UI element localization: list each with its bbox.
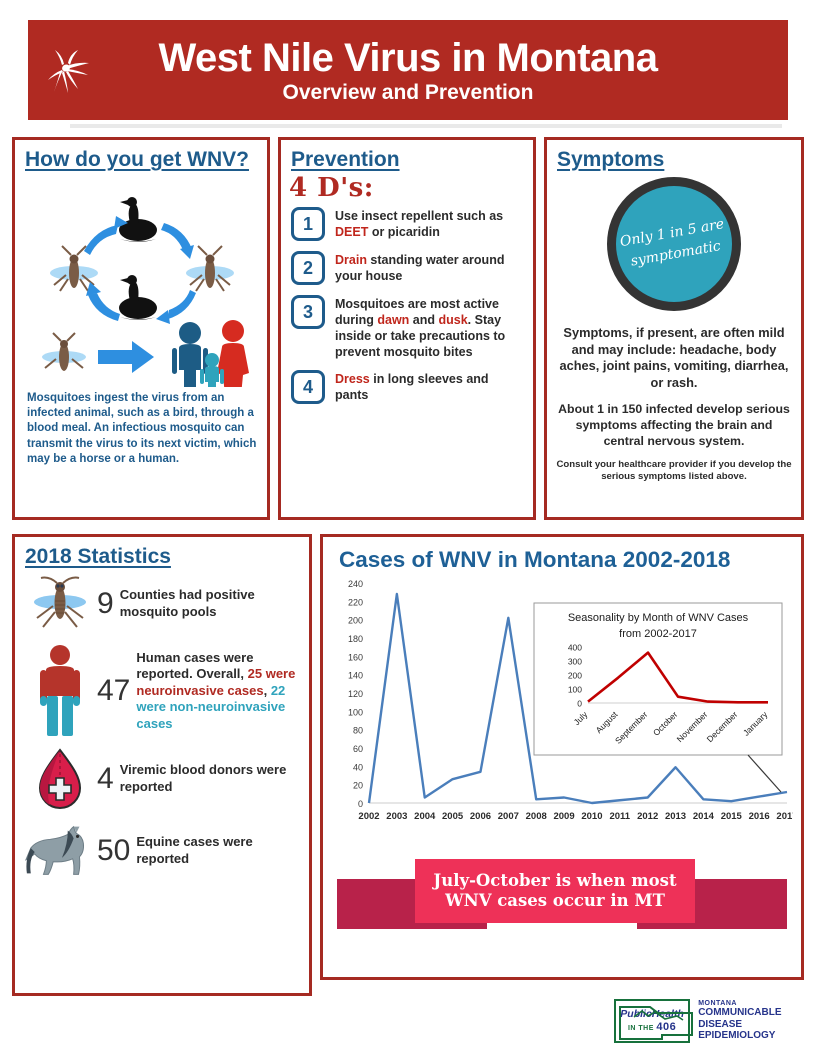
text-post: or picaridin [368, 225, 440, 239]
y-axis-tick: 180 [348, 634, 363, 644]
main-line-chart: 0204060801001201401601802002202402002200… [329, 575, 793, 845]
ribbon-text: July-October is when most WNV cases occu… [415, 871, 695, 911]
inset-y-tick: 0 [577, 699, 582, 709]
y-axis-tick: 240 [348, 579, 363, 589]
prevention-item-text: Mosquitoes are most active during dawn a… [335, 295, 525, 360]
page-header: West Nile Virus in Montana Overview and … [28, 20, 788, 120]
y-axis-tick: 0 [358, 799, 363, 809]
inset-y-tick: 400 [568, 643, 582, 653]
prevention-item-text: Dress in long sleeves and pants [335, 370, 525, 403]
prevention-subheading: 4 D's: [289, 173, 533, 203]
x-axis-tick: 2002 [358, 811, 379, 822]
symptoms-stat-circle: Only 1 in 5 are symptomatic [607, 177, 741, 311]
y-axis-tick: 20 [353, 781, 363, 791]
stat-text: Equine cases were reported [136, 834, 301, 867]
x-axis-tick: 2006 [470, 811, 491, 822]
blood-drop-icon [23, 748, 97, 810]
symptoms-paragraph-1: Symptoms, if present, are often mild and… [555, 325, 793, 392]
inset-y-tick: 200 [568, 671, 582, 681]
horse-icon [23, 822, 97, 880]
stat-text: Viremic blood donors were reported [120, 762, 301, 795]
x-axis-tick: 2004 [414, 811, 436, 822]
stat-row: 50 Equine cases were reported [15, 822, 309, 880]
prevention-item-text: Drain standing water around your house [335, 251, 525, 284]
stat-number: 50 [97, 834, 136, 868]
symptoms-stat-circle-wrap: Only 1 in 5 are symptomatic [547, 177, 801, 311]
x-axis-tick: 2016 [749, 811, 770, 822]
text-mid: and [409, 313, 438, 327]
text-highlight: dawn [377, 313, 409, 327]
step-number-badge: 4 [291, 370, 325, 404]
symptoms-heading: Symptoms [557, 148, 801, 171]
x-axis-tick: 2017 [776, 811, 793, 822]
y-axis-tick: 160 [348, 652, 363, 662]
x-axis-tick: 2008 [526, 811, 547, 822]
x-axis-tick: 2003 [386, 811, 407, 822]
y-axis-tick: 100 [348, 707, 363, 717]
stat-text-pre: Human cases were reported. Overall, [136, 650, 253, 682]
x-axis-tick: 2013 [665, 811, 686, 822]
inset-chart-title: from 2002-2017 [619, 628, 697, 640]
y-axis-tick: 200 [348, 616, 363, 626]
prevention-item-4: 4 Dress in long sleeves and pants [291, 370, 525, 404]
stat-number: 4 [97, 762, 120, 796]
prevention-panel: Prevention 4 D's: 1 Use insect repellent… [278, 137, 536, 520]
transmission-body: Mosquitoes ingest the virus from an infe… [27, 391, 257, 467]
y-axis-tick: 120 [348, 689, 363, 699]
prevention-item-2: 2 Drain standing water around your house [291, 251, 525, 285]
public-health-406-logo: PublicHealth IN THE 406 [614, 999, 690, 1043]
text-highlight: DEET [335, 225, 368, 239]
symptoms-paragraph-3: Consult your healthcare provider if you … [555, 459, 793, 484]
inset-y-tick: 300 [568, 657, 582, 667]
bird-icon [119, 197, 157, 242]
stat-number: 47 [97, 674, 136, 708]
chart-panel: Cases of WNV in Montana 2002-2018 020406… [320, 534, 804, 980]
statistics-panel: 2018 Statistics 9 Counties had positive … [12, 534, 312, 996]
org-name: MONTANA COMMUNICABLE DISEASE EPIDEMIOLOG… [698, 1000, 810, 1042]
text-highlight: Dress [335, 372, 370, 386]
stat-text: Human cases were reported. Overall, 25 w… [136, 650, 301, 733]
inset-chart-title: Seasonality by Month of WNV Cases [568, 612, 749, 624]
y-axis-tick: 220 [348, 597, 363, 607]
inset-y-tick: 100 [568, 685, 582, 695]
mosquito-icon [42, 44, 94, 102]
chart-title: Cases of WNV in Montana 2002-2018 [339, 547, 801, 573]
text-highlight: Drain [335, 253, 367, 267]
x-axis-tick: 2009 [553, 811, 574, 822]
prevention-list: 1 Use insect repellent such as DEET or p… [281, 207, 533, 404]
text-pre: Use insect repellent such as [335, 209, 503, 223]
org-line-1: MONTANA [698, 1000, 810, 1007]
x-axis-tick: 2015 [721, 811, 743, 822]
ribbon-body: July-October is when most WNV cases occu… [415, 859, 695, 923]
org-line-3: DISEASE EPIDEMIOLOGY [698, 1019, 810, 1042]
transmission-cycle-diagram [22, 175, 260, 387]
x-axis-tick: 2010 [581, 811, 602, 822]
x-axis-tick: 2011 [609, 811, 630, 822]
y-axis-tick: 40 [353, 762, 363, 772]
x-axis-tick: 2007 [498, 811, 519, 822]
symptoms-paragraph-2: About 1 in 150 infected develop serious … [555, 402, 793, 450]
y-axis-tick: 60 [353, 744, 363, 754]
key-message-ribbon: July-October is when most WNV cases occu… [323, 851, 801, 943]
transmission-heading: How do you get WNV? [25, 148, 267, 171]
y-axis-tick: 80 [353, 726, 363, 736]
inset-leader-line [748, 755, 781, 792]
org-line-2: COMMUNICABLE [698, 1007, 810, 1019]
page-title: West Nile Virus in Montana [159, 38, 658, 78]
page-subtitle: Overview and Prevention [283, 82, 534, 103]
stat-row: 4 Viremic blood donors were reported [15, 748, 309, 810]
x-axis-tick: 2014 [693, 811, 715, 822]
stat-number: 9 [97, 587, 120, 621]
y-axis-tick: 140 [348, 671, 363, 681]
stat-text: Counties had positive mosquito pools [120, 587, 301, 620]
x-axis-tick: 2012 [637, 811, 658, 822]
header-divider [70, 124, 782, 128]
prevention-item-3: 3 Mosquitoes are most active during dawn… [291, 295, 525, 360]
stat-row: 47 Human cases were reported. Overall, 2… [15, 644, 309, 738]
stat-text-mid: , [264, 683, 271, 698]
text-highlight-2: dusk [438, 313, 467, 327]
prevention-item-1: 1 Use insect repellent such as DEET or p… [291, 207, 525, 241]
prevention-heading: Prevention [291, 148, 533, 171]
family-icon [172, 320, 249, 387]
person-icon [23, 644, 97, 738]
step-number-badge: 1 [291, 207, 325, 241]
step-number-badge: 3 [291, 295, 325, 329]
x-axis-tick: 2005 [442, 811, 464, 822]
symptoms-circle-text: Only 1 in 5 are symptomatic [613, 213, 735, 275]
stat-row: 9 Counties had positive mosquito pools [15, 576, 309, 632]
mosquito-icon [23, 576, 97, 632]
transmission-panel: How do you get WNV? [12, 137, 270, 520]
prevention-item-text: Use insect repellent such as DEET or pic… [335, 207, 525, 240]
footer-logo: PublicHealth IN THE 406 MONTANA COMMUNIC… [614, 996, 810, 1046]
symptoms-panel: Symptoms Only 1 in 5 are symptomatic Sym… [544, 137, 804, 520]
statistics-heading: 2018 Statistics [25, 545, 309, 568]
step-number-badge: 2 [291, 251, 325, 285]
